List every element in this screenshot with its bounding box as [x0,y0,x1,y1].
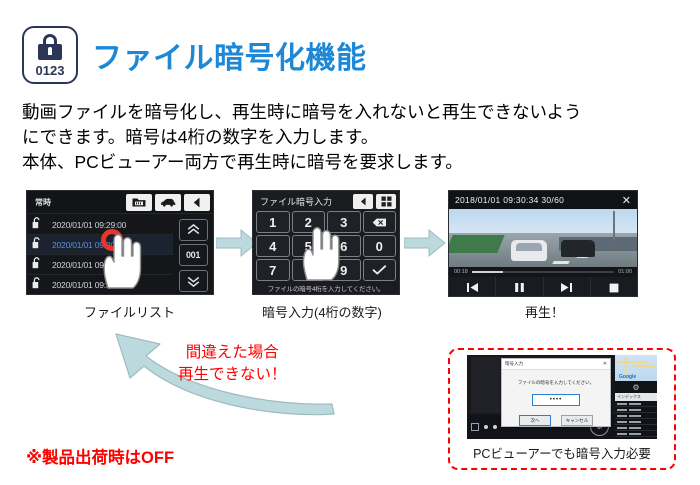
key-5[interactable]: 5 [292,235,326,257]
password-input[interactable]: •••• [532,394,580,406]
padlock-glyph [38,34,62,60]
sidebar-list-header: インデックス [615,393,657,401]
toolbar-dot [493,425,497,429]
list-item-label: 2020/01/01 09:31:00 [52,260,126,270]
filelist-mode-label: 常時 [30,197,123,208]
sidebar-list[interactable] [615,401,657,439]
warning-line-2: 再生できない！ [178,364,287,386]
key-6[interactable]: 6 [327,235,361,257]
filelist-rows: 2020/01/01 09:29:00 2020/01/01 09:30:00 [27,214,173,295]
lock-icon-digits: 0123 [36,63,65,78]
open-padlock-glyph [32,217,41,229]
keypad-screen: ファイル暗号入力 1 2 3 4 5 6 0 7 [252,190,400,295]
row-bar [617,409,627,411]
close-icon[interactable]: ✕ [603,361,607,367]
toolbar-dot [484,425,488,429]
unlock-icon [32,257,44,272]
ok-button[interactable]: 次へ [519,415,551,426]
seek-track[interactable] [472,271,614,273]
next-button[interactable] [544,277,591,297]
row-bar [617,433,627,435]
keypad-hint: ファイルの暗号4桁を入力してください。 [253,283,399,293]
filelist-pager: 001 [173,214,213,295]
previous-icon [466,282,479,293]
back-arrow-glyph [193,197,201,208]
playback-header: 2018/01/01 09:30:34 30/60 ✕ [449,191,637,209]
filelist-header: 常時 [27,191,213,214]
unlock-icon [32,277,44,292]
caption-keypad: 暗号入力(4桁の数字) [262,302,382,321]
white-car [511,240,547,261]
caption-filelist: ファイルリスト [84,302,175,321]
grid-glyph [381,196,392,207]
stop-button[interactable] [591,277,637,297]
double-chevron-up-icon [187,224,200,235]
playback-controls [449,277,637,297]
lock-0123-icon: 0123 [22,26,78,84]
intro-paragraph: 動画ファイルを暗号化し、再生時に暗号を入れないと再生できないよう にできます。暗… [22,100,582,175]
pcviewer-callout: ⚙ 暗号入力 ✕ ファイルの暗号を入力してください。 •••• 次へ キャンセル [448,348,676,470]
pause-button[interactable] [496,277,543,297]
folder-glyph [132,197,146,208]
warning-line-1: 間違えた場合 [178,342,287,364]
open-padlock-glyph [32,257,41,269]
playback-timestamp: 2018/01/01 09:30:34 30/60 [455,195,622,205]
double-chevron-down-icon [187,276,200,287]
list-item-label: 2020/01/01 09:32:00 [52,280,126,290]
back-arrow-glyph [360,197,367,206]
folder-icon[interactable] [126,194,152,211]
keypad-grid: 1 2 3 4 5 6 0 7 8 9 [253,211,399,281]
pcviewer-screenshot: ⚙ 暗号入力 ✕ ファイルの暗号を入力してください。 •••• 次へ キャンセル [467,355,657,439]
page-header: 0123 ファイル暗号化機能 [22,26,367,84]
dialog-titlebar: 暗号入力 ✕ [502,359,610,370]
map-label: Google [619,374,636,380]
unlock-icon [32,217,44,232]
list-item[interactable] [615,437,657,439]
intro-line-3: 本体、PCビューアー両方で再生時に暗号を要求します。 [22,150,582,175]
pcviewer-caption: PCビューアーでも暗号入力必要 [473,443,651,462]
back-arrow-icon[interactable] [184,194,210,211]
unlock-icon [32,237,44,252]
filelist-body: 2020/01/01 09:29:00 2020/01/01 09:30:00 [27,214,213,295]
prev-button[interactable] [449,277,496,297]
car-icon[interactable] [155,194,181,211]
back-arrow-icon[interactable] [353,194,373,209]
map-road [617,361,647,363]
key-2[interactable]: 2 [292,211,326,233]
stop-icon [609,283,619,293]
list-item[interactable]: 2020/01/01 09:31:00 [27,255,173,275]
key-3[interactable]: 3 [327,211,361,233]
seek-progress [472,271,503,273]
playback-seekbar[interactable]: 00:18 01:00 [449,267,637,277]
sidebar-gear-icon[interactable]: ⚙ [615,381,657,393]
key-7[interactable]: 7 [256,259,290,281]
open-padlock-glyph [32,277,41,289]
warning-message: 間違えた場合 再生できない！ [178,342,287,386]
tap-indicator-ring [101,229,123,251]
keypad-header: ファイル暗号入力 [253,191,399,211]
password-dialog: 暗号入力 ✕ ファイルの暗号を入力してください。 •••• 次へ キャンセル [501,358,611,427]
next-icon [560,282,573,293]
shipping-default-note: ※製品出荷時はOFF [26,444,174,468]
page-title: ファイル暗号化機能 [92,33,367,77]
caption-playback: 再生！ [525,302,564,321]
grid-icon[interactable] [376,194,396,209]
cancel-button[interactable]: キャンセル [561,415,593,426]
keypad-title: ファイル暗号入力 [256,195,350,208]
open-padlock-glyph [32,237,41,249]
row-bar [617,427,627,429]
list-item-label: 2020/01/01 09:29:00 [52,220,126,230]
map-thumbnail[interactable]: Google [615,355,657,381]
backspace-icon [372,218,387,227]
key-4[interactable]: 4 [256,235,290,257]
row-bar [629,433,641,435]
row-bar [617,415,627,417]
confirm-key[interactable] [363,259,397,281]
list-item[interactable]: 2020/01/01 09:32:00 [27,275,173,295]
key-1[interactable]: 1 [256,211,290,233]
row-bar [617,421,627,423]
padlock-keyhole [48,47,52,55]
dialog-message: ファイルの暗号を入力してください。 [502,380,610,386]
key-0[interactable]: 0 [363,235,397,257]
playback-screen: 2018/01/01 09:30:34 30/60 ✕ 00:18 01:00 [448,190,638,297]
row-bar [629,409,641,411]
pcviewer-sidebar: Google ⚙ インデックス [615,355,657,439]
row-bar [629,415,641,417]
pcviewer-main-area: ⚙ 暗号入力 ✕ ファイルの暗号を入力してください。 •••• 次へ キャンセル [467,355,615,439]
key-8[interactable]: 8 [292,259,326,281]
scroll-up-button[interactable] [179,219,208,241]
pause-icon [514,282,525,293]
intro-line-2: にできます。暗号は4桁の数字を入力します。 [22,125,582,150]
row-bar [617,439,627,440]
backspace-key[interactable] [363,211,397,233]
lane-marking [552,261,570,264]
dark-suv [561,240,595,257]
dialog-title: 暗号入力 [505,361,603,367]
dialog-buttons: 次へ キャンセル [502,415,610,426]
map-road [633,365,655,367]
elapsed-time: 00:18 [454,269,468,275]
flow-arrow-to-playback [404,228,446,258]
toolbar-icon[interactable] [471,423,479,431]
video-frame [449,209,637,267]
close-icon[interactable]: ✕ [622,194,631,207]
roadside-grass [449,235,505,253]
row-bar [629,421,641,423]
list-item[interactable]: 2020/01/01 09:30:00 [27,235,173,255]
key-9[interactable]: 9 [327,259,361,281]
row-bar [617,403,627,405]
row-bar [629,427,641,429]
duration-time: 01:00 [618,269,632,275]
page-indicator: 001 [179,244,208,266]
scroll-down-button[interactable] [179,270,208,292]
row-bar [629,439,641,440]
checkmark-icon [372,265,387,275]
intro-line-1: 動画ファイルを暗号化し、再生時に暗号を入れないと再生できないよう [22,100,582,125]
list-item[interactable]: 2020/01/01 09:29:00 [27,215,173,235]
car-glyph [160,197,176,207]
row-bar [629,403,641,405]
light-pole [613,211,615,241]
